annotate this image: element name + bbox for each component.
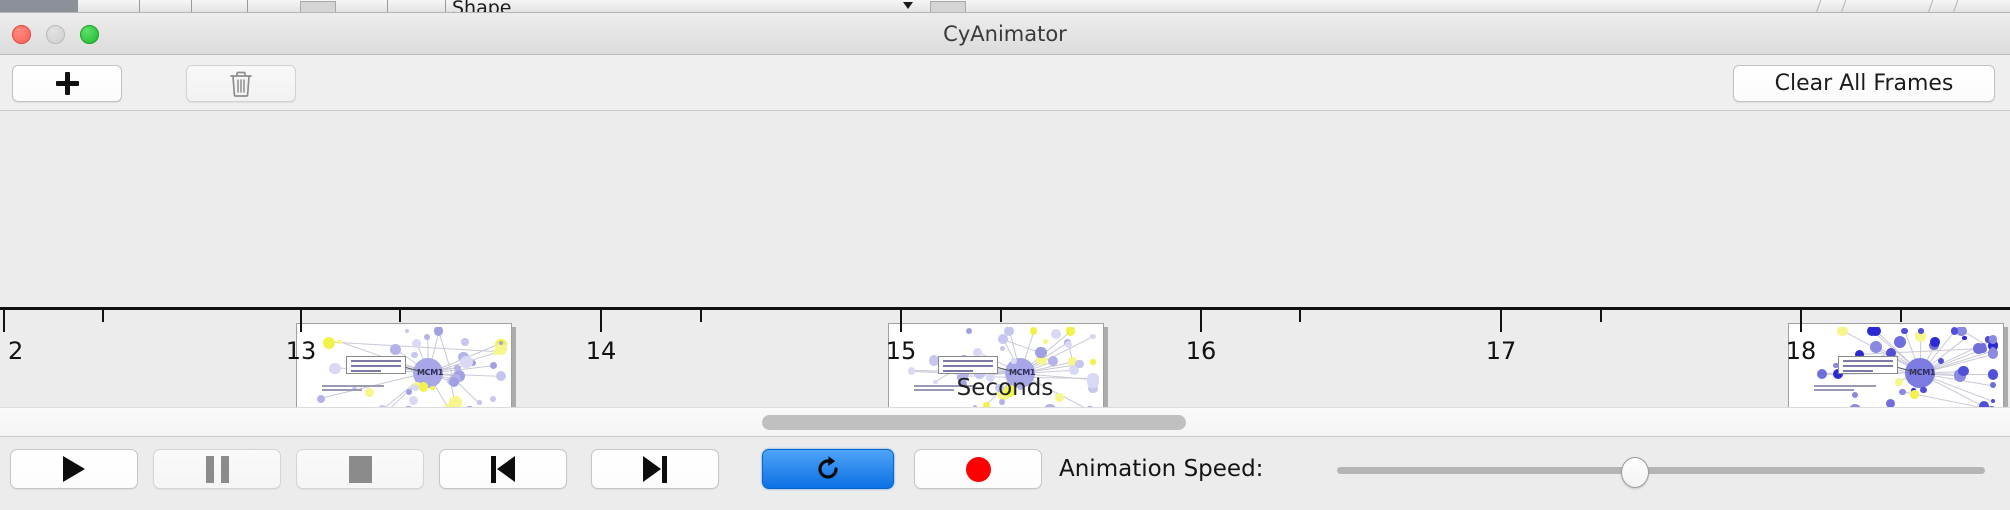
ruler-tick-15.5 [1000, 310, 1002, 322]
background-window-dark-cell [0, 0, 78, 13]
ruler-tick-label-13: 13 [286, 337, 317, 365]
clear-all-frames-button[interactable]: Clear All Frames [1733, 65, 1995, 102]
frames-area: MCM1MCM1MCM1 [0, 111, 2010, 307]
skip-back-button[interactable] [439, 449, 567, 489]
ruler-tick-14 [600, 310, 602, 332]
timeline-panel[interactable]: MCM1MCM1MCM1 2131415161718 Seconds [0, 111, 2010, 407]
ruler-tick-16 [1200, 310, 1202, 332]
ruler-tick-label-18: 18 [1786, 337, 1817, 365]
timeline-scrollbar-thumb[interactable] [762, 415, 1186, 430]
animation-speed-label: Animation Speed: [1059, 449, 1263, 489]
ruler-tick-16.5 [1299, 310, 1301, 322]
pause-button[interactable] [153, 449, 281, 489]
background-window-divider [1841, 0, 1847, 13]
background-window-strip: Shape [0, 0, 2010, 13]
axis-title: Seconds [0, 375, 2010, 401]
ruler-tick-label-17: 17 [1486, 337, 1517, 365]
timeline-ruler[interactable]: 2131415161718 Seconds [0, 307, 2010, 407]
ruler-tick-18.5 [1900, 310, 1902, 322]
loop-icon [813, 454, 843, 484]
ruler-tick-label-15: 15 [886, 337, 917, 365]
ruler-tick-label-16: 16 [1186, 337, 1217, 365]
background-window-cell [78, 0, 140, 13]
ruler-tick-label-14: 14 [586, 337, 617, 365]
background-window-cell [388, 0, 446, 13]
background-window-divider [1816, 0, 1822, 13]
stop-icon [349, 456, 372, 483]
delete-frame-button[interactable] [186, 65, 296, 102]
playback-bar: Animation Speed: [0, 437, 2010, 510]
timeline-scrollbar[interactable] [0, 407, 2010, 437]
trash-icon [228, 70, 254, 98]
frame-toolbar: Clear All Frames [0, 55, 2010, 111]
window-title: CyAnimator [0, 13, 2010, 55]
pause-icon [206, 456, 229, 483]
ruler-tick-13.5 [399, 310, 401, 322]
skip-forward-icon [643, 456, 667, 483]
stop-button[interactable] [296, 449, 424, 489]
record-icon [966, 457, 991, 482]
play-button[interactable] [10, 449, 138, 489]
ruler-tick-label-12: 2 [8, 337, 23, 365]
cyanimator-window: Shape CyAnimator Clear All Frames MCM1MC… [0, 0, 2010, 510]
animation-speed-slider-thumb[interactable] [1621, 457, 1649, 488]
skip-forward-button[interactable] [591, 449, 719, 489]
background-window-label: Shape [452, 0, 512, 13]
loop-button[interactable] [762, 449, 894, 489]
ruler-tick-17 [1500, 310, 1502, 332]
background-window-divider [1928, 0, 1934, 13]
ruler-tick-17.5 [1600, 310, 1602, 322]
ruler-tick-12.5 [102, 310, 104, 322]
skip-back-icon [491, 456, 515, 483]
ruler-tick-12 [3, 310, 5, 332]
background-window-box [300, 1, 336, 13]
add-frame-button[interactable] [12, 65, 122, 102]
ruler-tick-15 [900, 310, 902, 332]
background-window-marker-icon [903, 2, 913, 9]
title-bar: CyAnimator [0, 13, 2010, 55]
background-window-divider [1953, 0, 1959, 13]
play-icon [63, 456, 85, 482]
record-button[interactable] [914, 449, 1042, 489]
background-window-cell [192, 0, 248, 13]
ruler-tick-18 [1800, 310, 1802, 332]
background-window-box [930, 1, 966, 13]
ruler-tick-14.5 [700, 310, 702, 322]
animation-speed-slider[interactable] [1337, 467, 1985, 474]
plus-icon [56, 72, 79, 95]
background-window-cell [140, 0, 192, 13]
ruler-tick-13 [300, 310, 302, 332]
